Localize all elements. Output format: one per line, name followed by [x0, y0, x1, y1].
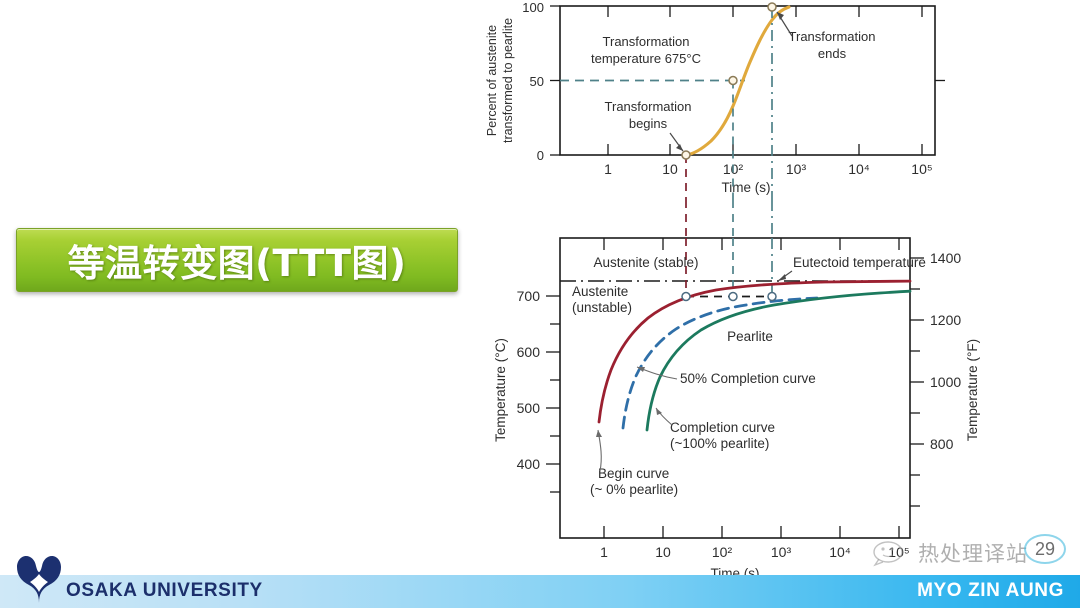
bottom-chart-xtick-10000: 10⁴ [829, 544, 851, 560]
top-chart: 100 50 0 Percent of austenite transforme… [485, 0, 945, 200]
bottom-chart-xtick-10: 10 [655, 544, 671, 560]
bottom-chart-xtick-1000: 10³ [771, 544, 792, 560]
bottom-chart-fifty-completion-label: 50% Completion curve [680, 371, 816, 386]
top-chart-xtick-1000: 10³ [786, 161, 807, 177]
top-chart-end-marker [768, 3, 776, 11]
bottom-chart-completion-curve [647, 291, 910, 430]
bottom-chart-austenite-unstable-line2: (unstable) [572, 300, 632, 315]
bottom-chart-ytick-1400: 1400 [930, 250, 961, 266]
bottom-chart-xtick-1: 1 [600, 544, 608, 560]
bottom-chart-begin-curve [599, 281, 910, 422]
top-chart-xlabel: Time (s) [722, 180, 771, 195]
top-chart-transformation-begins-line1: Transformation [605, 99, 692, 114]
top-chart-transformation-begins-line2: begins [629, 116, 668, 131]
bottom-chart-completion-label-line1: Completion curve [670, 420, 775, 435]
bottom-chart-ytick-800: 800 [930, 436, 954, 452]
top-chart-ylabel-line2: transformed to pearlite [501, 18, 515, 143]
top-chart-ylabel: Percent of austenite transformed to pear… [485, 18, 515, 143]
bottom-chart-ytick-400: 400 [517, 456, 541, 472]
top-chart-begin-marker [682, 151, 690, 159]
bottom-chart: 700 600 500 400 Temperature (°C) [493, 238, 980, 581]
top-chart-xtick-100000: 10⁵ [911, 161, 932, 177]
osaka-university-logo-icon [14, 554, 64, 606]
bottom-chart-ylabel-right-group: Temperature (°F) [965, 339, 980, 441]
top-chart-xtick-10: 10 [662, 161, 678, 177]
bottom-chart-xtick-labels: 1 10 10² 10³ 10⁴ 10⁵ [600, 544, 910, 560]
slide-canvas: 等温转变图(TTT图) [0, 0, 1080, 608]
bottom-chart-fifty-completion-curve [623, 298, 817, 428]
top-chart-xtick-1: 1 [604, 161, 612, 177]
bottom-chart-completion-label-line2: (~100% pearlite) [670, 436, 769, 451]
bottom-chart-austenite-stable-label: Austenite (stable) [593, 255, 698, 270]
top-chart-ytick-50: 50 [530, 74, 544, 89]
bottom-chart-austenite-unstable-line1: Austenite [572, 284, 628, 299]
inter-chart-connectors [686, 200, 772, 238]
bottom-chart-eutectoid-arrowhead [778, 274, 786, 281]
osaka-university-wordmark: OSAKA UNIVERSITY [66, 580, 263, 602]
top-chart-ytick-100: 100 [522, 0, 544, 15]
footer-bar: OSAKA UNIVERSITY MYO ZIN AUNG [0, 575, 1080, 608]
bottom-chart-pearlite-label: Pearlite [727, 329, 773, 344]
ttt-diagram-figure: 100 50 0 Percent of austenite transforme… [480, 0, 1080, 592]
bottom-chart-ylabel-right: Temperature (°F) [965, 339, 980, 441]
top-chart-transformation-ends-line2: ends [818, 46, 847, 61]
top-chart-transformation-temperature-line1: Transformation [603, 34, 690, 49]
ttt-diagram-svg: 100 50 0 Percent of austenite transforme… [480, 0, 1080, 592]
bottom-chart-right-y-ticks [910, 258, 924, 506]
presenter-name: MYO ZIN AUNG [917, 580, 1064, 602]
bottom-chart-ytick-500: 500 [517, 400, 541, 416]
top-chart-transformation-ends-line1: Transformation [789, 29, 876, 44]
bottom-chart-left-y-ticks [546, 296, 560, 492]
bottom-chart-begin-arrowhead [596, 430, 602, 437]
top-chart-plot-frame [560, 6, 935, 155]
top-chart-begins-arrowhead [676, 144, 683, 151]
slide-title-banner: 等温转变图(TTT图) [16, 228, 458, 292]
bottom-chart-begin-label-line2: (~ 0% pearlite) [590, 482, 678, 497]
top-chart-fifty-marker [729, 77, 737, 85]
bottom-chart-eutectoid-temperature-label: Eutectoid temperature [793, 255, 926, 270]
top-chart-ytick-0: 0 [537, 148, 544, 163]
page-title: 等温转变图(TTT图) [68, 233, 407, 287]
bottom-chart-ylabel-left-group: Temperature (°C) [493, 338, 508, 442]
top-chart-transformation-temperature-line2: temperature 675°C [591, 51, 701, 66]
top-chart-ylabel-line1: Percent of austenite [485, 25, 499, 136]
bottom-chart-begin-intersect-marker [682, 293, 690, 301]
bottom-chart-ylabel-left: Temperature (°C) [493, 338, 508, 442]
bottom-chart-xtick-100: 10² [712, 544, 733, 560]
bottom-chart-ytick-1200: 1200 [930, 312, 961, 328]
bottom-chart-ytick-600: 600 [517, 344, 541, 360]
top-chart-xtick-10000: 10⁴ [848, 161, 870, 177]
bottom-chart-ytick-1000: 1000 [930, 374, 961, 390]
bottom-chart-xtick-100000: 10⁵ [888, 544, 909, 560]
bottom-chart-end-intersect-marker [768, 293, 776, 301]
bottom-chart-ytick-700: 700 [517, 288, 541, 304]
bottom-chart-begin-label-line1: Begin curve [598, 466, 669, 481]
top-chart-xtick-labels: 1 10 10² 10³ 10⁴ 10⁵ [604, 161, 933, 177]
bottom-chart-fifty-intersect-marker [729, 293, 737, 301]
